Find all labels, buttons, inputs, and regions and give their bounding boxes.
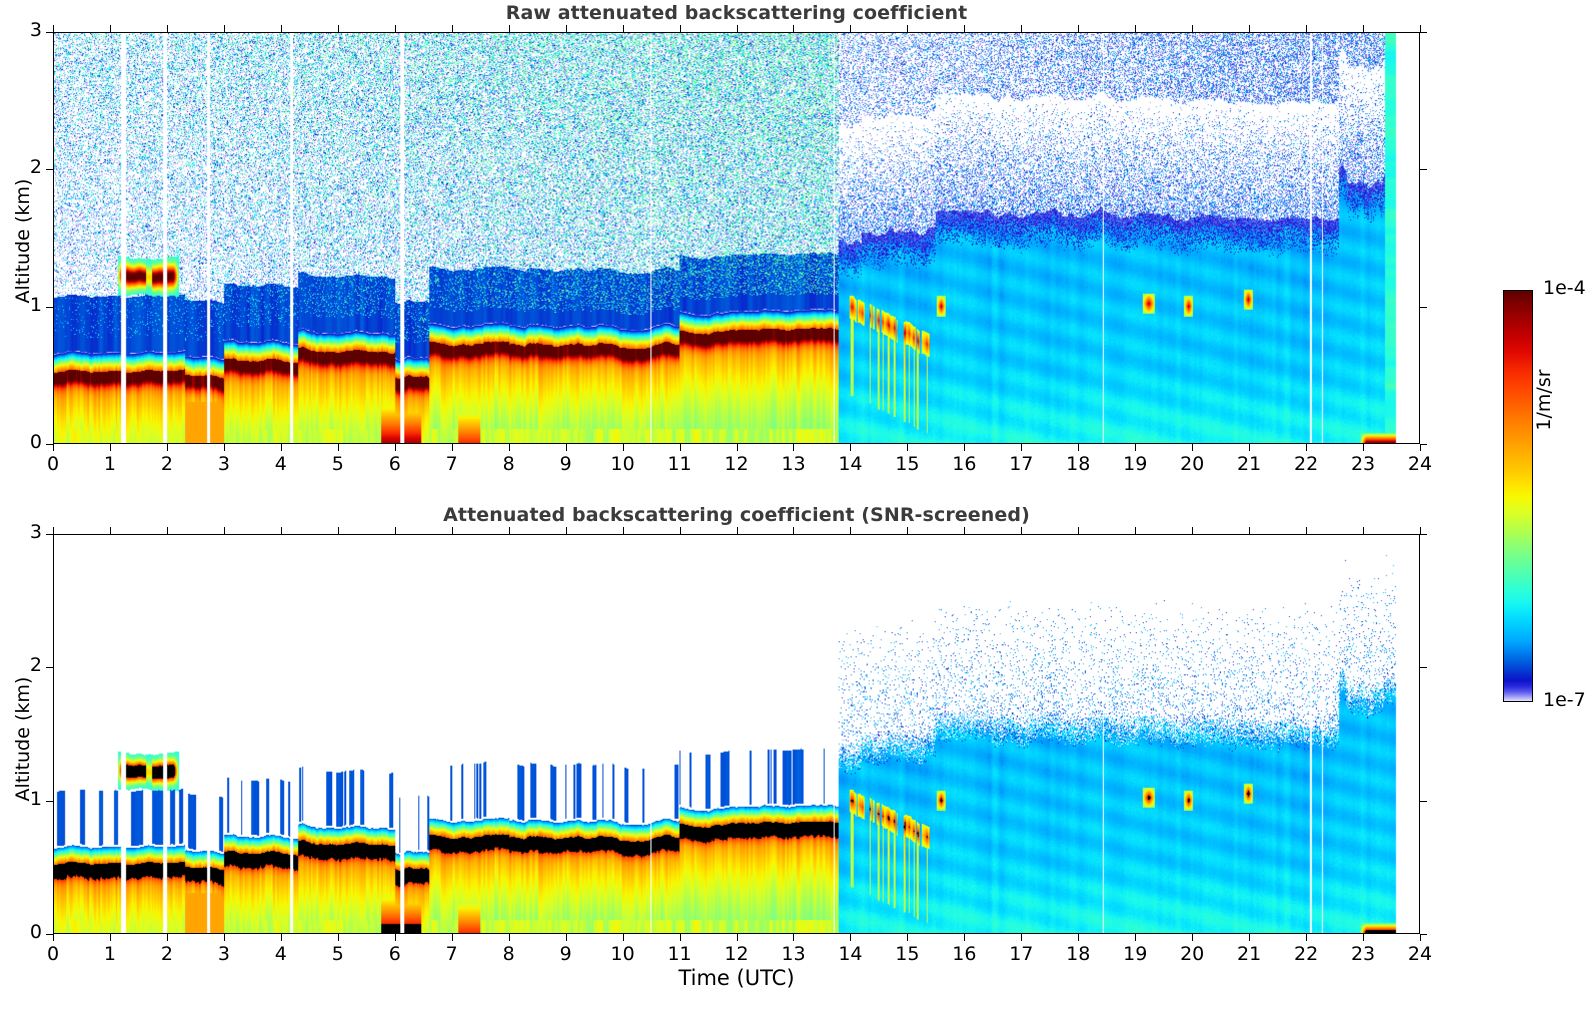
x-tick-label: 10: [601, 943, 645, 965]
x-tick: [737, 444, 738, 451]
x-tick-top: [1192, 527, 1193, 534]
x-tick-label: 16: [942, 943, 986, 965]
x-tick-label: 17: [999, 453, 1043, 475]
y-tick-label: 0: [6, 921, 42, 943]
colorbar-max-label: 1e-4: [1543, 277, 1586, 299]
x-tick: [793, 934, 794, 941]
x-tick-top: [1021, 527, 1022, 534]
x-tick: [623, 444, 624, 451]
x-tick-top: [1306, 25, 1307, 32]
x-tick-top: [907, 25, 908, 32]
x-tick: [452, 444, 453, 451]
x-tick: [907, 444, 908, 451]
x-tick-label: 22: [1284, 453, 1328, 475]
y-tick: [46, 534, 53, 535]
x-tick-label: 1: [88, 943, 132, 965]
x-tick-label: 21: [1227, 943, 1271, 965]
x-tick-label: 17: [999, 943, 1043, 965]
x-tick: [1021, 444, 1022, 451]
x-tick: [1363, 444, 1364, 451]
x-tick-label: 0: [31, 453, 75, 475]
x-tick: [566, 444, 567, 451]
x-tick-label: 7: [430, 943, 474, 965]
panel-title-raw: Raw attenuated backscattering coefficien…: [53, 2, 1420, 24]
x-tick-label: 2: [145, 943, 189, 965]
x-tick: [110, 934, 111, 941]
x-tick-top: [281, 527, 282, 534]
x-tick: [281, 444, 282, 451]
x-tick: [623, 934, 624, 941]
x-tick-label: 10: [601, 453, 645, 475]
x-tick-top: [281, 25, 282, 32]
y-tick-right: [1420, 934, 1427, 935]
x-tick-top: [1363, 527, 1364, 534]
x-tick-label: 24: [1398, 453, 1442, 475]
y-tick-right: [1420, 444, 1427, 445]
x-tick: [281, 934, 282, 941]
x-tick-top: [850, 527, 851, 534]
y-tick-label: 3: [6, 521, 42, 543]
x-tick-top: [1363, 25, 1364, 32]
x-tick-top: [110, 25, 111, 32]
colorbar-gradient: [1503, 290, 1533, 702]
x-tick-label: 19: [1113, 943, 1157, 965]
x-tick-label: 13: [771, 453, 815, 475]
x-tick: [1192, 444, 1193, 451]
x-tick-top: [110, 527, 111, 534]
x-tick: [1021, 934, 1022, 941]
x-tick-top: [623, 527, 624, 534]
x-tick-top: [167, 25, 168, 32]
x-tick-top: [793, 527, 794, 534]
x-tick-label: 15: [885, 453, 929, 475]
x-tick-top: [793, 25, 794, 32]
x-tick-top: [1192, 25, 1193, 32]
x-tick-label: 14: [828, 943, 872, 965]
x-tick-top: [964, 25, 965, 32]
x-tick-label: 5: [316, 943, 360, 965]
y-tick: [46, 801, 53, 802]
x-tick-top: [167, 527, 168, 534]
x-tick: [1192, 934, 1193, 941]
x-tick: [1249, 934, 1250, 941]
y-tick: [46, 307, 53, 308]
x-tick-label: 15: [885, 943, 929, 965]
x-tick-top: [566, 25, 567, 32]
x-tick-label: 6: [373, 453, 417, 475]
x-tick: [167, 934, 168, 941]
x-tick-top: [680, 25, 681, 32]
x-tick: [338, 934, 339, 941]
x-tick-top: [1078, 527, 1079, 534]
colorbar-min-label: 1e-7: [1543, 689, 1586, 711]
x-tick-top: [452, 25, 453, 32]
x-tick-label: 8: [487, 453, 531, 475]
x-tick-top: [1420, 527, 1421, 534]
y-tick: [46, 169, 53, 170]
x-tick-top: [1306, 527, 1307, 534]
x-tick-label: 18: [1056, 453, 1100, 475]
x-tick: [338, 444, 339, 451]
y-tick-label: 3: [6, 19, 42, 41]
plot-area-snr: [53, 534, 1420, 934]
x-tick-top: [53, 527, 54, 534]
x-tick-label: 5: [316, 453, 360, 475]
x-tick-label: 4: [259, 453, 303, 475]
y-tick-right: [1420, 667, 1427, 668]
x-tick: [53, 934, 54, 941]
x-tick-top: [566, 527, 567, 534]
x-tick-label: 22: [1284, 943, 1328, 965]
x-tick-top: [395, 25, 396, 32]
x-tick-label: 18: [1056, 943, 1100, 965]
x-tick-top: [1078, 25, 1079, 32]
x-tick: [907, 934, 908, 941]
x-tick-label: 9: [544, 943, 588, 965]
x-tick: [1420, 444, 1421, 451]
x-tick-label: 20: [1170, 453, 1214, 475]
x-tick-label: 23: [1341, 453, 1385, 475]
x-tick-top: [452, 527, 453, 534]
x-tick: [110, 444, 111, 451]
x-axis-label: Time (UTC): [53, 966, 1420, 990]
heatmap-raw: [54, 33, 1419, 443]
x-tick: [167, 444, 168, 451]
x-tick-label: 23: [1341, 943, 1385, 965]
x-tick-top: [509, 25, 510, 32]
x-tick-top: [907, 527, 908, 534]
x-tick-label: 9: [544, 453, 588, 475]
x-tick-label: 4: [259, 943, 303, 965]
x-tick: [1135, 934, 1136, 941]
x-tick: [395, 934, 396, 941]
x-tick-top: [224, 25, 225, 32]
x-tick: [224, 934, 225, 941]
x-tick-top: [395, 527, 396, 534]
x-tick: [509, 444, 510, 451]
x-tick-label: 13: [771, 943, 815, 965]
x-tick-top: [53, 25, 54, 32]
x-tick: [964, 934, 965, 941]
x-tick: [680, 934, 681, 941]
x-tick-label: 12: [715, 943, 759, 965]
x-tick-top: [1249, 25, 1250, 32]
x-tick: [1420, 934, 1421, 941]
x-tick: [566, 934, 567, 941]
y-tick: [46, 934, 53, 935]
x-tick: [737, 934, 738, 941]
x-tick-top: [1135, 25, 1136, 32]
x-tick: [452, 934, 453, 941]
x-tick-top: [509, 527, 510, 534]
colorbar-unit-label: 1/m/sr: [1533, 340, 1555, 460]
colorbar: 1e-4 1e-7: [1503, 290, 1533, 702]
x-tick-label: 21: [1227, 453, 1271, 475]
x-tick-top: [850, 25, 851, 32]
x-tick-top: [1135, 527, 1136, 534]
heatmap-snr: [54, 535, 1419, 933]
y-tick: [46, 667, 53, 668]
x-tick-label: 3: [202, 453, 246, 475]
x-tick: [1135, 444, 1136, 451]
y-tick-label: 2: [6, 156, 42, 178]
x-tick: [964, 444, 965, 451]
x-tick-label: 2: [145, 453, 189, 475]
x-tick-label: 14: [828, 453, 872, 475]
x-tick: [850, 934, 851, 941]
x-tick-top: [224, 527, 225, 534]
x-tick-top: [1021, 25, 1022, 32]
x-tick-top: [338, 25, 339, 32]
y-tick-right: [1420, 169, 1427, 170]
x-tick: [53, 444, 54, 451]
x-tick-label: 12: [715, 453, 759, 475]
x-tick-top: [1420, 25, 1421, 32]
x-tick-label: 7: [430, 453, 474, 475]
y-tick-right: [1420, 307, 1427, 308]
y-tick-label: 0: [6, 431, 42, 453]
x-tick-label: 6: [373, 943, 417, 965]
x-tick-label: 1: [88, 453, 132, 475]
x-tick-label: 19: [1113, 453, 1157, 475]
plot-area-raw: [53, 32, 1420, 444]
x-tick-top: [1249, 527, 1250, 534]
x-tick-label: 16: [942, 453, 986, 475]
x-tick: [1306, 444, 1307, 451]
y-tick: [46, 444, 53, 445]
x-tick: [1078, 444, 1079, 451]
x-tick-label: 11: [658, 453, 702, 475]
panel-title-snr: Attenuated backscattering coefficient (S…: [53, 504, 1420, 526]
x-tick-label: 24: [1398, 943, 1442, 965]
x-tick-top: [338, 527, 339, 534]
x-tick: [1363, 934, 1364, 941]
lidar-backscatter-figure: Raw attenuated backscattering coefficien…: [0, 0, 1595, 1020]
x-tick-top: [680, 527, 681, 534]
x-tick-label: 8: [487, 943, 531, 965]
y-tick-right: [1420, 32, 1427, 33]
y-tick-label: 1: [6, 294, 42, 316]
x-tick: [509, 934, 510, 941]
x-tick-top: [737, 527, 738, 534]
x-tick: [1306, 934, 1307, 941]
y-tick-label: 2: [6, 654, 42, 676]
x-tick-label: 3: [202, 943, 246, 965]
y-tick-label: 1: [6, 788, 42, 810]
x-tick-top: [623, 25, 624, 32]
y-tick-right: [1420, 801, 1427, 802]
x-tick-label: 20: [1170, 943, 1214, 965]
x-tick-label: 0: [31, 943, 75, 965]
x-tick: [224, 444, 225, 451]
x-tick-label: 11: [658, 943, 702, 965]
x-tick: [395, 444, 396, 451]
x-tick-top: [964, 527, 965, 534]
x-tick: [850, 444, 851, 451]
x-tick: [793, 444, 794, 451]
y-axis-label-raw: Altitude (km): [12, 171, 34, 311]
x-tick: [1249, 444, 1250, 451]
y-tick: [46, 32, 53, 33]
x-tick: [1078, 934, 1079, 941]
x-tick-top: [737, 25, 738, 32]
y-tick-right: [1420, 534, 1427, 535]
x-tick: [680, 444, 681, 451]
